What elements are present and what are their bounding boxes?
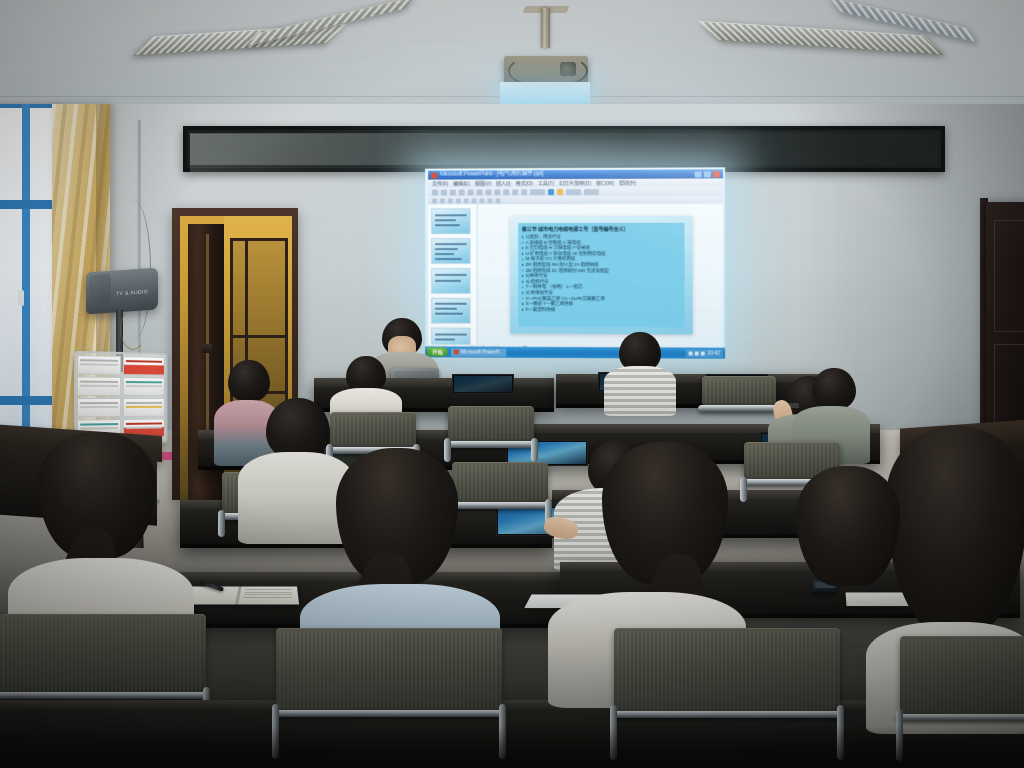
blackboard [183,126,945,172]
bullets-icon[interactable] [495,198,500,203]
design-button[interactable] [566,188,581,194]
monitor-brand-label: TV & AUDIO [116,289,148,297]
new-icon[interactable] [432,189,438,195]
restore-icon[interactable] [704,171,711,177]
powerpoint-workspace: 第三节 城市电力电缆电源工号（型号编号含义） 1)类别、用途代号 A 紧缘缆 B… [428,204,723,346]
slide-thumbnail[interactable] [431,268,470,294]
menu-item-slideshow[interactable]: 幻灯片放映(D) [559,179,591,186]
brochure [77,376,121,396]
system-tray[interactable]: 10:42 [686,349,723,357]
brochure [77,355,121,375]
paste-icon[interactable] [503,189,509,195]
student-hair [796,466,900,586]
undo-icon[interactable] [512,189,518,195]
student-hair [886,426,1024,636]
brochure [123,377,165,396]
classroom-photo: Microsoft PowerPoint - [电气消防课件.ppt] 文件(F… [0,0,1024,768]
powerpoint-app-icon [431,172,437,178]
preview-icon[interactable] [468,189,474,195]
lecture-chair[interactable] [276,628,502,764]
font-name-combo[interactable] [432,198,437,203]
lecture-chair[interactable] [614,628,840,766]
monitor-power-cable [120,308,146,350]
volume-icon[interactable] [689,351,693,355]
slide-thumbnail[interactable] [431,208,470,234]
student-head [812,368,856,410]
slide-bullet: F—氟塑料绝缘 [522,307,680,313]
menu-item-format[interactable]: 格式(O) [516,180,533,187]
windows-taskbar[interactable]: 开始 Microsoft PowerP... 10:42 [425,346,725,358]
projector-lens-icon [560,62,576,76]
ime-icon[interactable] [701,351,705,355]
rack-shelf [77,398,165,417]
font-size-combo[interactable] [440,198,445,203]
align-left-icon[interactable] [480,198,485,203]
menu-item-tools[interactable]: 工具(T) [538,180,554,187]
new-slide-button[interactable] [584,188,599,194]
network-icon[interactable] [695,351,699,355]
copy-icon[interactable] [494,189,500,195]
lecture-chair[interactable] [900,636,1024,766]
menu-item-insert[interactable]: 插入(I) [496,180,511,187]
projector-beam-glow [500,82,590,104]
door-handle[interactable] [202,344,212,353]
door-panel [994,220,1024,332]
slide-title: 第三节 城市电力电缆电源工号（型号编号含义） [522,225,680,232]
window-controls[interactable] [695,171,720,177]
desk-monitor[interactable] [452,374,514,394]
print-icon[interactable] [459,189,465,195]
slide-thumbnail[interactable] [431,238,470,264]
brochure [123,356,165,376]
projection-screen: Microsoft PowerPoint - [电气消防课件.ppt] 文件(F… [425,167,725,358]
cut-icon[interactable] [485,189,491,195]
window-latch-handle[interactable] [18,290,24,306]
student-fg-far-right [786,466,906,626]
student-mid-striped [604,332,676,410]
wall-stand-video-monitor: TV & AUDIO [86,267,158,314]
slide-editing-area[interactable]: 第三节 城市电力电缆电源工号（型号编号含义） 1)类别、用途代号 A 紧缘缆 B… [480,204,724,346]
align-center-icon[interactable] [487,198,492,203]
taskbar-item-powerpoint[interactable]: Microsoft PowerP... [451,348,506,356]
bold-icon[interactable] [448,198,453,203]
open-icon[interactable] [441,189,447,195]
student-torso [604,366,676,416]
menu-item-edit[interactable]: 编辑(E) [453,180,469,187]
window-mullion-horizontal [0,200,58,209]
menu-item-file[interactable]: 文件(F) [432,180,448,187]
window-mullion-horizontal [0,396,58,405]
menu-item-help[interactable]: 帮助(H) [619,179,636,186]
menu-item-view[interactable]: 视图(V) [475,180,492,187]
underline-icon[interactable] [464,198,469,203]
spellcheck-icon[interactable] [477,189,483,195]
insert-table-icon[interactable] [557,189,563,195]
close-icon[interactable] [713,171,720,177]
student-head [228,360,270,402]
powerpoint-icon [454,349,459,354]
current-slide[interactable]: 第三节 城市电力电缆电源工号（型号编号含义） 1)类别、用途代号 A 紧缘缆 B… [510,215,692,334]
zoom-combo[interactable] [530,189,545,195]
italic-icon[interactable] [456,198,461,203]
rack-shelf [77,355,165,376]
brochure [77,398,121,417]
menu-item-window[interactable]: 窗口(W) [596,179,614,186]
shadow-icon[interactable] [472,198,477,203]
taskbar-clock: 10:42 [707,350,720,356]
insert-chart-icon[interactable] [548,189,554,195]
projector-mount-pole [541,8,550,48]
redo-icon[interactable] [521,189,527,195]
monitor-bezel [89,274,111,306]
brochure [123,398,165,417]
minimize-icon[interactable] [695,171,702,177]
rack-shelf [77,376,165,396]
taskbar-item-label: Microsoft PowerP... [461,349,503,355]
lecture-chair[interactable] [702,376,776,424]
save-icon[interactable] [450,189,456,195]
